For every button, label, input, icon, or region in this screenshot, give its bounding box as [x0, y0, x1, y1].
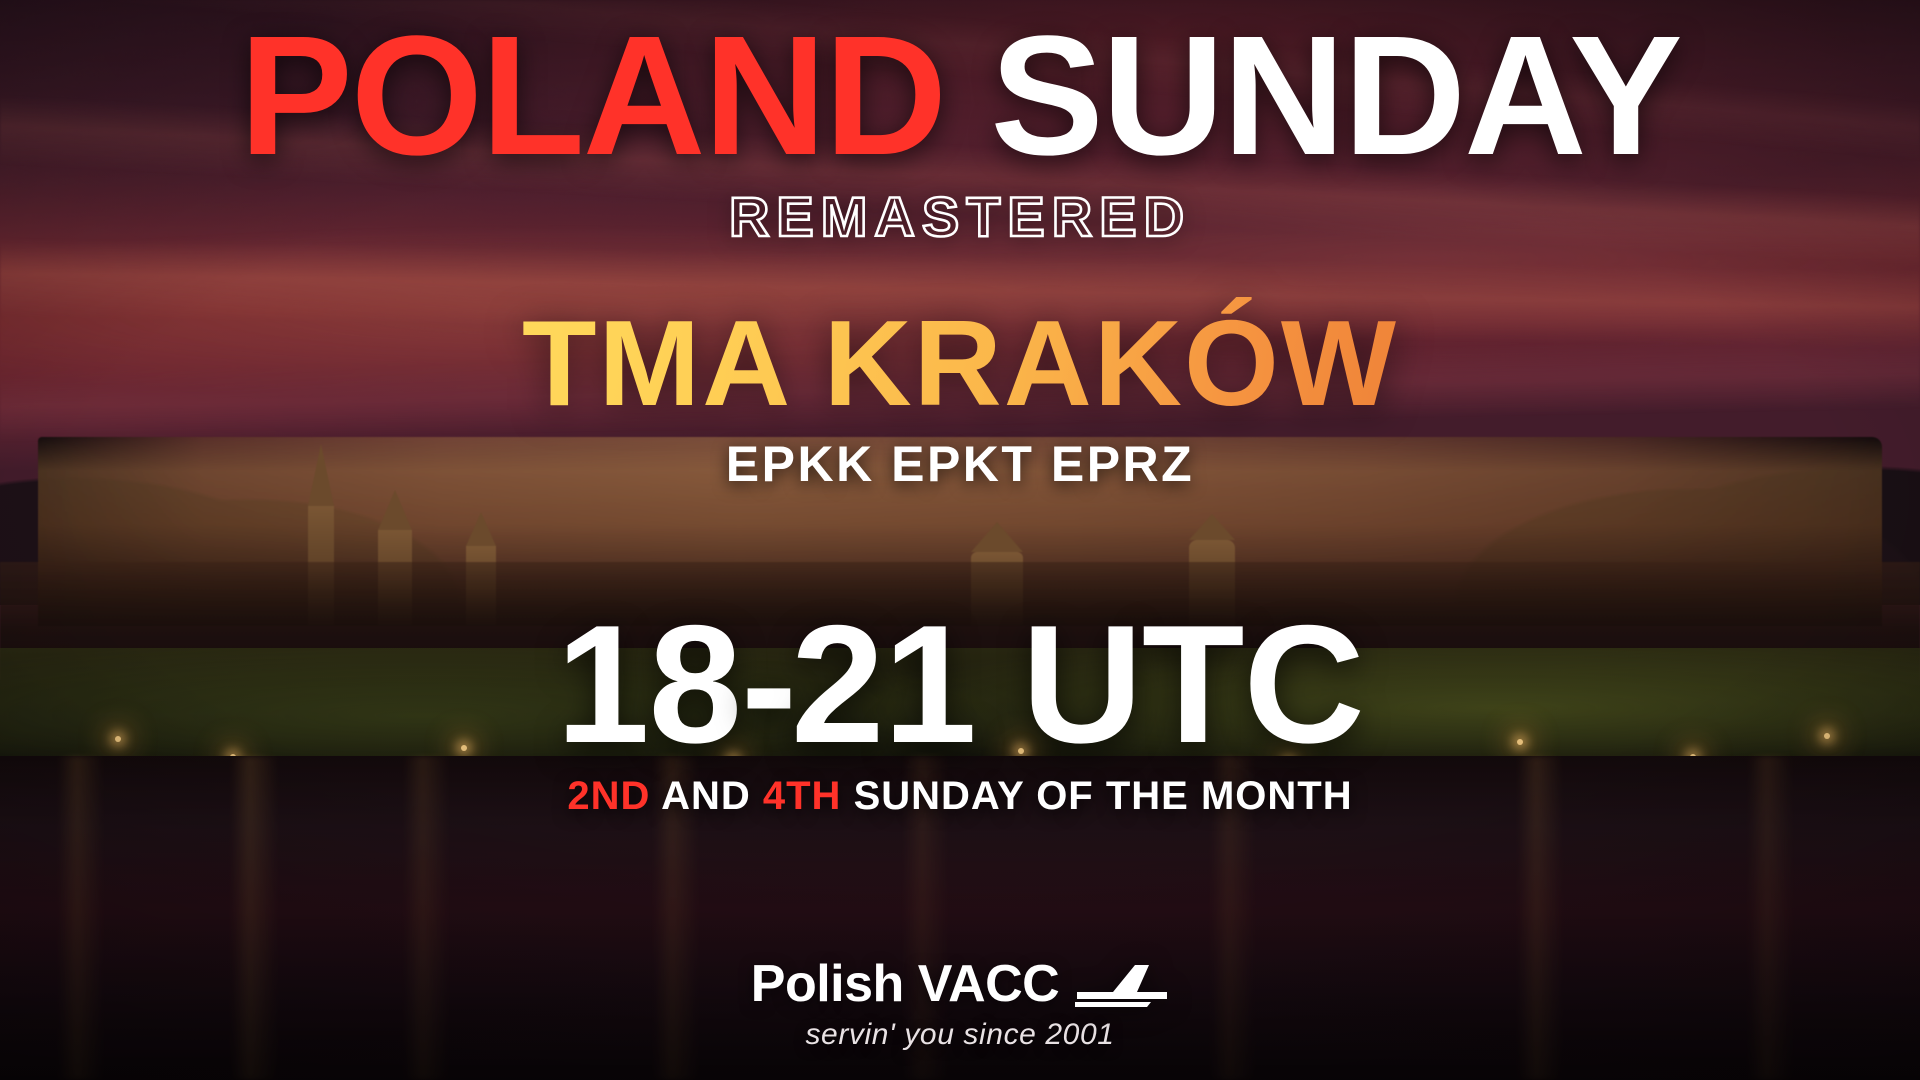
headline-sunday: SUNDAY: [990, 1, 1680, 191]
winged-aircraft-icon: [1073, 961, 1169, 1007]
time-start: 18: [556, 590, 741, 778]
schedule-line: 2ND AND 4TH SUNDAY OF THE MONTH: [0, 774, 1920, 819]
time-dash: -: [741, 590, 791, 778]
logo-wordmark: Polish VACC: [751, 954, 1059, 1014]
event-time: 18-21 UTC: [0, 600, 1920, 768]
logo-row: Polish VACC: [751, 954, 1169, 1014]
time-zone: UTC: [1022, 590, 1364, 778]
airport-codes: EPKK EPKT EPRZ: [726, 435, 1194, 493]
sector-title: TMA KRAKÓW: [522, 293, 1398, 433]
schedule-ordinal-first: 2ND: [567, 774, 650, 818]
headline-poland: POLAND: [239, 1, 945, 191]
schedule-ordinal-second: 4TH: [763, 774, 842, 818]
logo-tagline: servin' you since 2001: [805, 1018, 1114, 1052]
organisation-logo: Polish VACC servin' you since 2001: [0, 954, 1920, 1052]
time-space: [976, 590, 1022, 778]
poster-content: POLAND SUNDAY REMASTERED TMA KRAKÓW EPKK…: [0, 0, 1920, 1080]
event-poster: POLAND SUNDAY REMASTERED TMA KRAKÓW EPKK…: [0, 0, 1920, 1080]
time-end: 21: [791, 590, 976, 778]
schedule-conjunction: AND: [661, 774, 751, 818]
headline: POLAND SUNDAY: [239, 16, 1680, 178]
schedule-tail: SUNDAY OF THE MONTH: [854, 774, 1353, 818]
time-block: 18-21 UTC 2ND AND 4TH SUNDAY OF THE MONT…: [0, 600, 1920, 819]
remastered-label: REMASTERED: [729, 184, 1191, 249]
